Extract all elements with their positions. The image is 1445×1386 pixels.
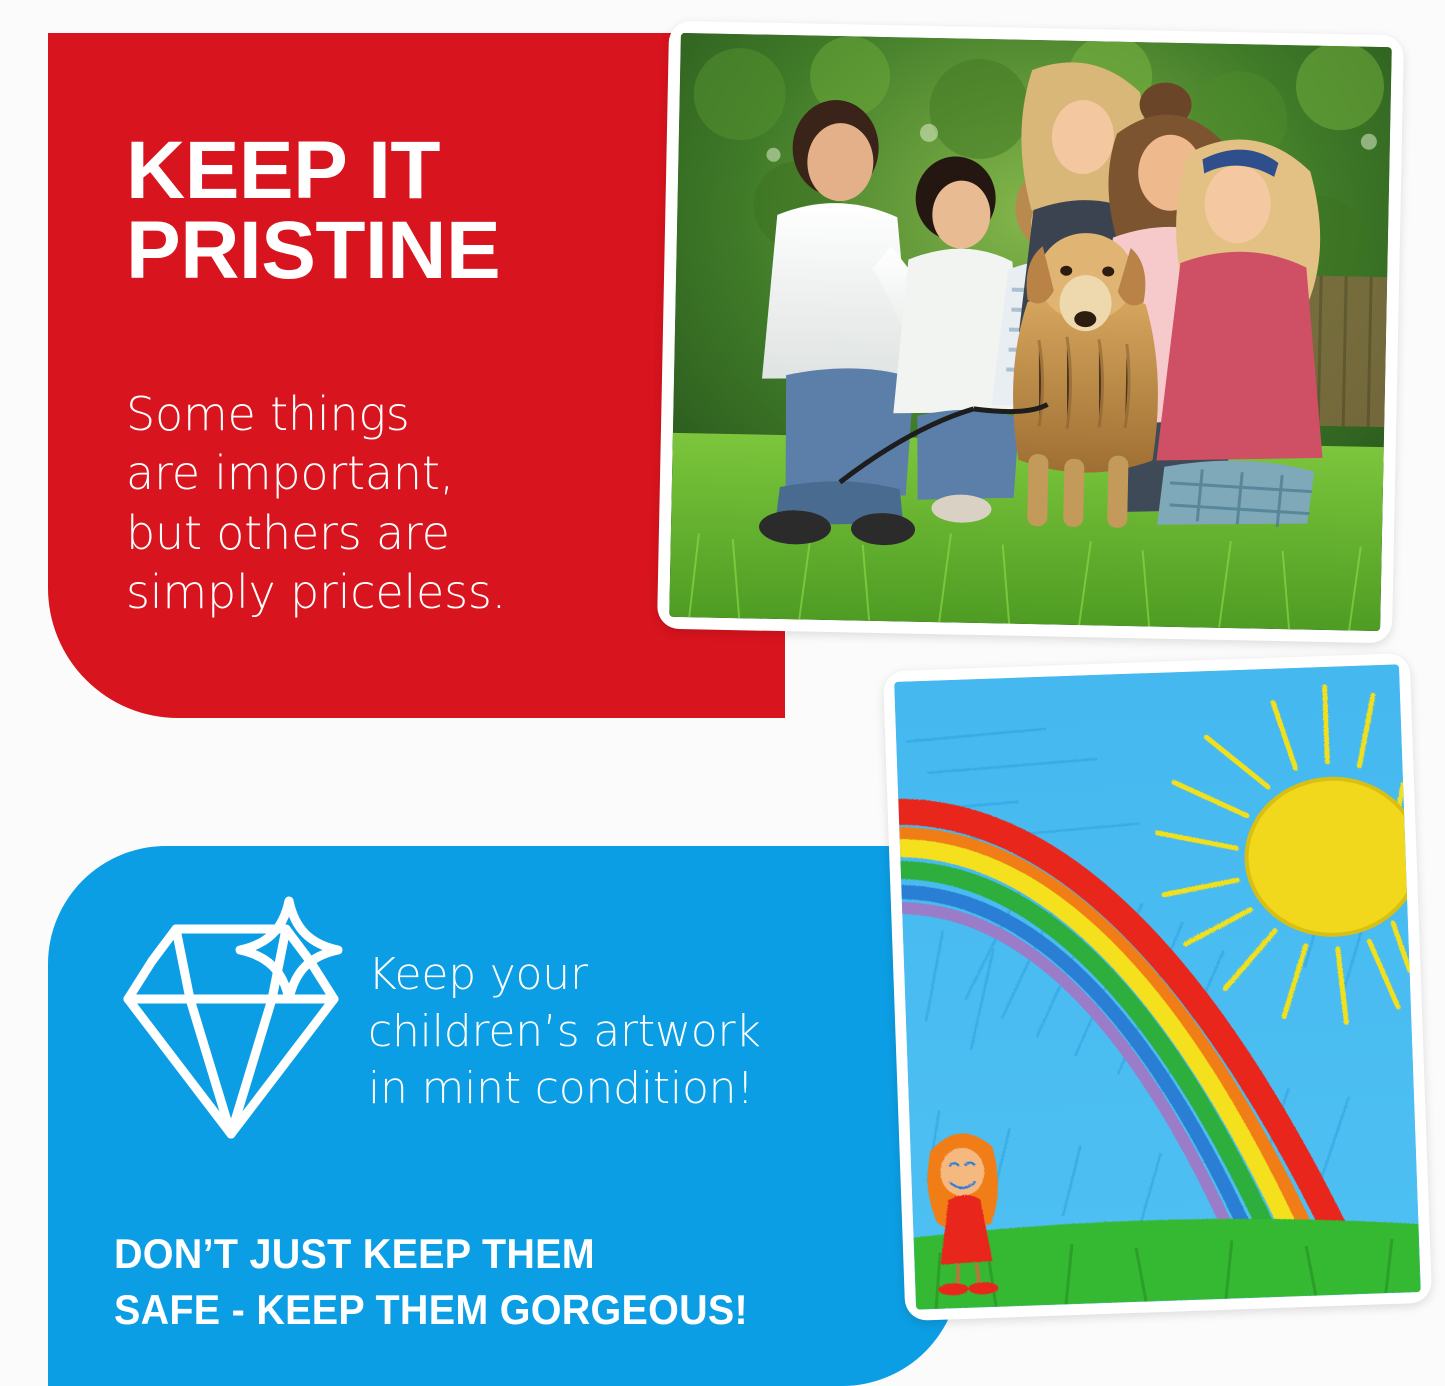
blue-body-line-2: children’s artwork xyxy=(368,1003,888,1060)
red-body-line-1: Some things xyxy=(126,385,626,444)
red-headline-line-2: PRISTINE xyxy=(126,211,686,291)
poster-canvas: KEEP IT PRISTINE Some things are importa… xyxy=(0,0,1445,1375)
red-body-line-4: simply priceless. xyxy=(126,563,626,622)
blue-panel-tagline: DON’T JUST KEEP THEM SAFE - KEEP THEM GO… xyxy=(114,1226,885,1338)
child-artwork-card xyxy=(883,653,1432,1321)
blue-feature-panel: Keep your children’s artwork in mint con… xyxy=(48,846,960,1386)
blue-panel-body: Keep your children’s artwork in mint con… xyxy=(368,946,888,1118)
red-body-line-2: are important, xyxy=(126,444,626,503)
child-artwork-drawing xyxy=(894,664,1421,1309)
red-body-line-3: but others are xyxy=(126,504,626,563)
red-headline-line-1: KEEP IT xyxy=(126,125,440,216)
blue-tagline-line-2: SAFE - KEEP THEM GORGEOUS! xyxy=(114,1282,885,1338)
red-panel-body: Some things are important, but others ar… xyxy=(126,385,626,622)
blue-body-line-3: in mint condition! xyxy=(368,1060,888,1117)
red-panel-headline: KEEP IT PRISTINE xyxy=(126,131,686,290)
family-dog-photo-card xyxy=(657,21,1404,644)
blue-body-line-1: Keep your xyxy=(368,946,888,1003)
family-dog-photo xyxy=(669,33,1392,631)
blue-tagline-line-1: DON’T JUST KEEP THEM xyxy=(114,1226,885,1282)
diamond-sparkle-icon xyxy=(114,891,354,1141)
